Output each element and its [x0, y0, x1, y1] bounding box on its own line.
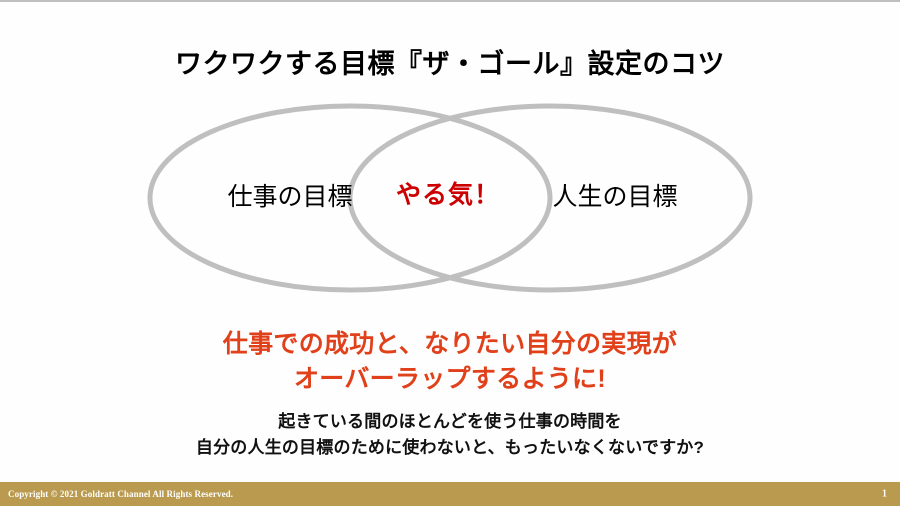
accent-message-line-2: オーバーラップするように!: [0, 362, 900, 397]
question-text: 起きている間のほとんどを使う仕事の時間を 自分の人生の目標のために使わないと、も…: [0, 409, 900, 460]
footer-page-number: 1: [882, 489, 887, 500]
question-line-1: 起きている間のほとんどを使う仕事の時間を: [0, 409, 900, 435]
venn-right-label: 人生の目標: [495, 185, 735, 210]
accent-message: 仕事での成功と、なりたい自分の実現が オーバーラップするように!: [0, 327, 900, 396]
question-line-2: 自分の人生の目標のために使わないと、もったいなくないですか?: [0, 435, 900, 461]
footer-copyright: Copyright © 2021 Goldratt Channel All Ri…: [8, 489, 233, 499]
page-title: ワクワクする目標『ザ・ゴール』設定のコツ: [0, 42, 900, 81]
accent-message-line-1: 仕事での成功と、なりたい自分の実現が: [0, 327, 900, 362]
venn-diagram: 仕事の目標 やる気！ 人生の目標: [140, 97, 760, 302]
slide-canvas: ワクワクする目標『ザ・ゴール』設定のコツ 仕事の目標 やる気！ 人生の目標 仕事…: [0, 0, 900, 506]
footer-bar: Copyright © 2021 Goldratt Channel All Ri…: [0, 482, 900, 506]
